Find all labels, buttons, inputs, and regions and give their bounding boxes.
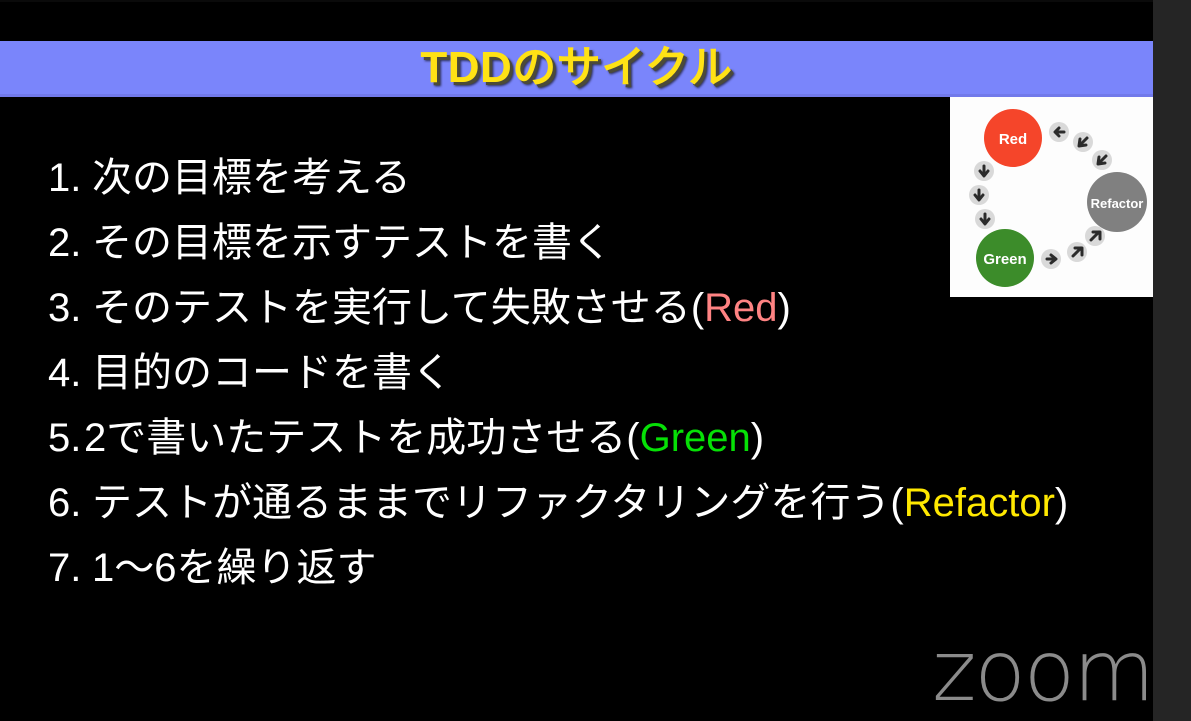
list-item: 6. テストが通るままでリファクタリングを行う ( Refactor ) xyxy=(48,471,1138,536)
list-item: 2. その目標を示すテストを書く xyxy=(48,211,1138,276)
zoom-window-gutter xyxy=(1153,0,1191,721)
phase-tag-refactor: Refactor xyxy=(904,471,1055,536)
step-number: 6. xyxy=(48,471,92,536)
list-item: 7. 1〜6を繰り返す xyxy=(48,536,1138,601)
paren-close: ) xyxy=(778,276,791,341)
phase-tag-red: Red xyxy=(704,276,777,341)
list-item: 4. 目的のコードを書く xyxy=(48,341,1138,406)
step-text: 次の目標を考える xyxy=(92,146,411,211)
step-text: そのテストを実行して失敗させる xyxy=(92,276,691,341)
list-item: 3. そのテストを実行して失敗させる ( Red ) xyxy=(48,276,1138,341)
step-text: 1〜6を繰り返す xyxy=(92,536,377,601)
title-banner: TDDのサイクル xyxy=(0,41,1153,97)
list-item: 1. 次の目標を考える xyxy=(48,146,1138,211)
page-title: TDDのサイクル xyxy=(420,46,732,90)
phase-tag-green: Green xyxy=(640,406,751,471)
paren-open: ( xyxy=(691,276,704,341)
top-edge-hairline xyxy=(0,0,1153,2)
step-text: テストが通るままでリファクタリングを行う xyxy=(92,471,890,536)
step-text: 目的のコードを書く xyxy=(92,341,452,406)
slide-canvas: TDDのサイクル Red Refactor Green xyxy=(0,0,1191,721)
paren-open: ( xyxy=(890,471,903,536)
list-item: 5. 2で書いたテストを成功させる ( Green ) xyxy=(48,406,1138,471)
step-number: 1. xyxy=(48,146,92,211)
step-text: その目標を示すテストを書く xyxy=(92,211,612,276)
step-number: 3. xyxy=(48,276,92,341)
tdd-step-list: 1. 次の目標を考える 2. その目標を示すテストを書く 3. そのテストを実行… xyxy=(48,146,1138,601)
zoom-watermark: zoom xyxy=(932,629,1153,713)
paren-close: ) xyxy=(1055,471,1068,536)
step-number: 4. xyxy=(48,341,92,406)
step-number: 7. xyxy=(48,536,92,601)
step-number: 5. xyxy=(48,406,84,471)
paren-close: ) xyxy=(751,406,764,471)
paren-open: ( xyxy=(626,406,639,471)
step-number: 2. xyxy=(48,211,92,276)
step-text: 2で書いたテストを成功させる xyxy=(84,406,626,471)
